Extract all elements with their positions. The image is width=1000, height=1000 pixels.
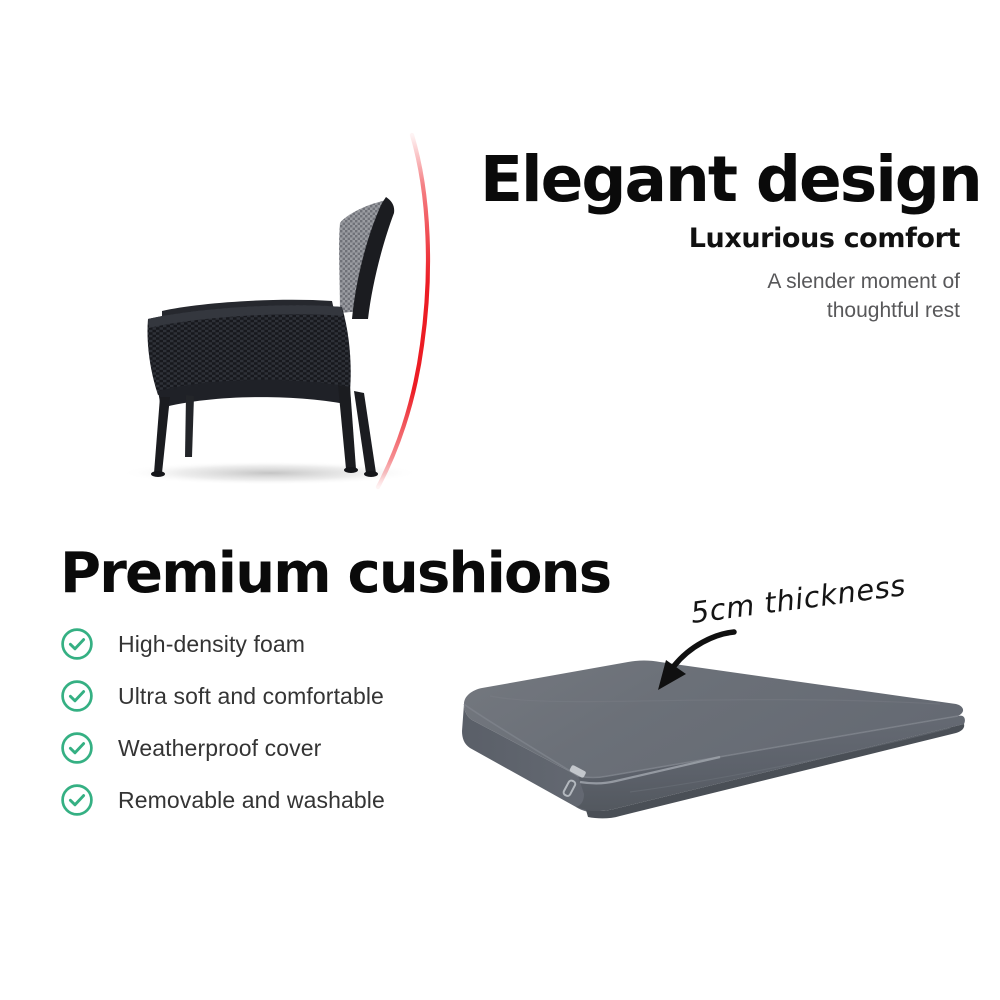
check-circle-icon	[60, 783, 94, 817]
feature-item-high-density-foam: High-density foam	[60, 618, 480, 670]
tagline-line-2: thoughtful rest	[827, 299, 960, 322]
chair-accent-curve	[378, 135, 428, 487]
elegant-design-panel: Elegant design Luxurious comfort A slend…	[480, 148, 960, 326]
feature-list: High-density foam Ultra soft and comfort…	[60, 618, 480, 826]
chair-foot-cap-2	[344, 467, 358, 473]
feature-item-removable-washable: Removable and washable	[60, 774, 480, 826]
check-circle-icon	[60, 627, 94, 661]
product-infographic-canvas: Elegant design Luxurious comfort A slend…	[0, 0, 1000, 1000]
feature-label: High-density foam	[118, 631, 305, 658]
feature-label: Weatherproof cover	[118, 735, 321, 762]
chair-leg-front-right	[338, 385, 356, 469]
chair-foot-cap-3	[364, 471, 378, 477]
elegant-design-headline: Elegant design	[480, 148, 960, 211]
elegant-design-tagline: A slender moment of thoughtful rest	[480, 268, 960, 326]
elegant-design-subhead: Luxurious comfort	[480, 223, 960, 254]
chair-leg-front-left	[154, 397, 170, 473]
feature-label: Ultra soft and comfortable	[118, 683, 384, 710]
check-circle-icon	[60, 679, 94, 713]
feature-label: Removable and washable	[118, 787, 385, 814]
chair-product-image	[100, 105, 440, 495]
chair-foot-cap-1	[151, 471, 165, 477]
feature-item-ultra-soft: Ultra soft and comfortable	[60, 670, 480, 722]
feature-item-weatherproof-cover: Weatherproof cover	[60, 722, 480, 774]
chair-leg-rear-left	[185, 395, 194, 457]
tagline-line-1: A slender moment of	[767, 270, 960, 293]
chair-leg-rear-right	[354, 391, 376, 473]
premium-cushions-headline: Premium cushions	[60, 546, 610, 602]
check-circle-icon	[60, 731, 94, 765]
